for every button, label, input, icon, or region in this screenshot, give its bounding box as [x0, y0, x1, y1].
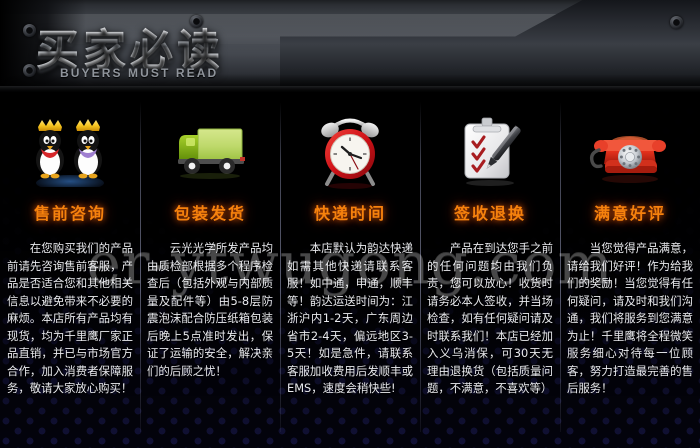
column-body-text: 本店默认为韵达快递如需其他快递请联系客服！如中通，申通，顺丰等！韵达运送时间为：…	[287, 240, 413, 398]
clipboard-checklist-icon	[426, 104, 554, 196]
info-column-pre-sale: 售前咨询 在您购买我们的产品前请先咨询售前客服，产品是否适合您和其他相关信息以避…	[0, 96, 140, 448]
info-column-satisfaction-review: 满意好评 当您觉得产品满意，请给我们好评！作为给我们的奖励！当您觉得有任何疑问，…	[560, 96, 700, 448]
delivery-truck-icon	[146, 104, 274, 196]
screw-icon	[23, 64, 36, 77]
info-column-signing-returns: 签收退换 产品在到达您手之前的任何问题均由我们负责，您可以放心！收货时请务必本人…	[420, 96, 560, 448]
column-title: 包装发货	[174, 200, 246, 224]
screw-icon	[23, 24, 36, 37]
alarm-clock-icon	[286, 104, 414, 196]
info-column-packing-shipping: 包装发货 云光光学所发产品均由质检部根据多个程序检查后（包括外观与内部质量及配件…	[140, 96, 280, 448]
page-subtitle: BUYERS MUST READ	[60, 66, 218, 80]
header-banner: 买家必读 BUYERS MUST READ	[0, 0, 700, 96]
info-column-delivery-time: 快递时间 本店默认为韵达快递如需其他快递请联系客服！如中通，申通，顺丰等！韵达运…	[280, 96, 420, 448]
screw-icon	[670, 16, 683, 29]
column-title: 签收退换	[454, 200, 526, 224]
page-root: 买家必读 BUYERS MUST READ	[0, 0, 700, 448]
column-body-text: 产品在到达您手之前的任何问题均由我们负责，您可以放心！收货时请务必本人签收，并当…	[427, 240, 553, 398]
column-title: 满意好评	[594, 200, 666, 224]
info-columns: 售前咨询 在您购买我们的产品前请先咨询售前客服，产品是否适合您和其他相关信息以避…	[0, 96, 700, 448]
column-title: 售前咨询	[34, 200, 106, 224]
column-title: 快递时间	[314, 200, 386, 224]
qq-penguins-icon	[6, 104, 134, 196]
column-body-text: 在您购买我们的产品前请先咨询售前客服，产品是否适合您和其他相关信息以避免带来不必…	[7, 240, 133, 398]
red-telephone-icon	[566, 104, 694, 196]
column-body-text: 当您觉得产品满意，请给我们好评！作为给我们的奖励！当您觉得有任何疑问，请及时和我…	[567, 240, 693, 398]
column-body-text: 云光光学所发产品均由质检部根据多个程序检查后（包括外观与内部质量及配件等）由5-…	[147, 240, 273, 380]
